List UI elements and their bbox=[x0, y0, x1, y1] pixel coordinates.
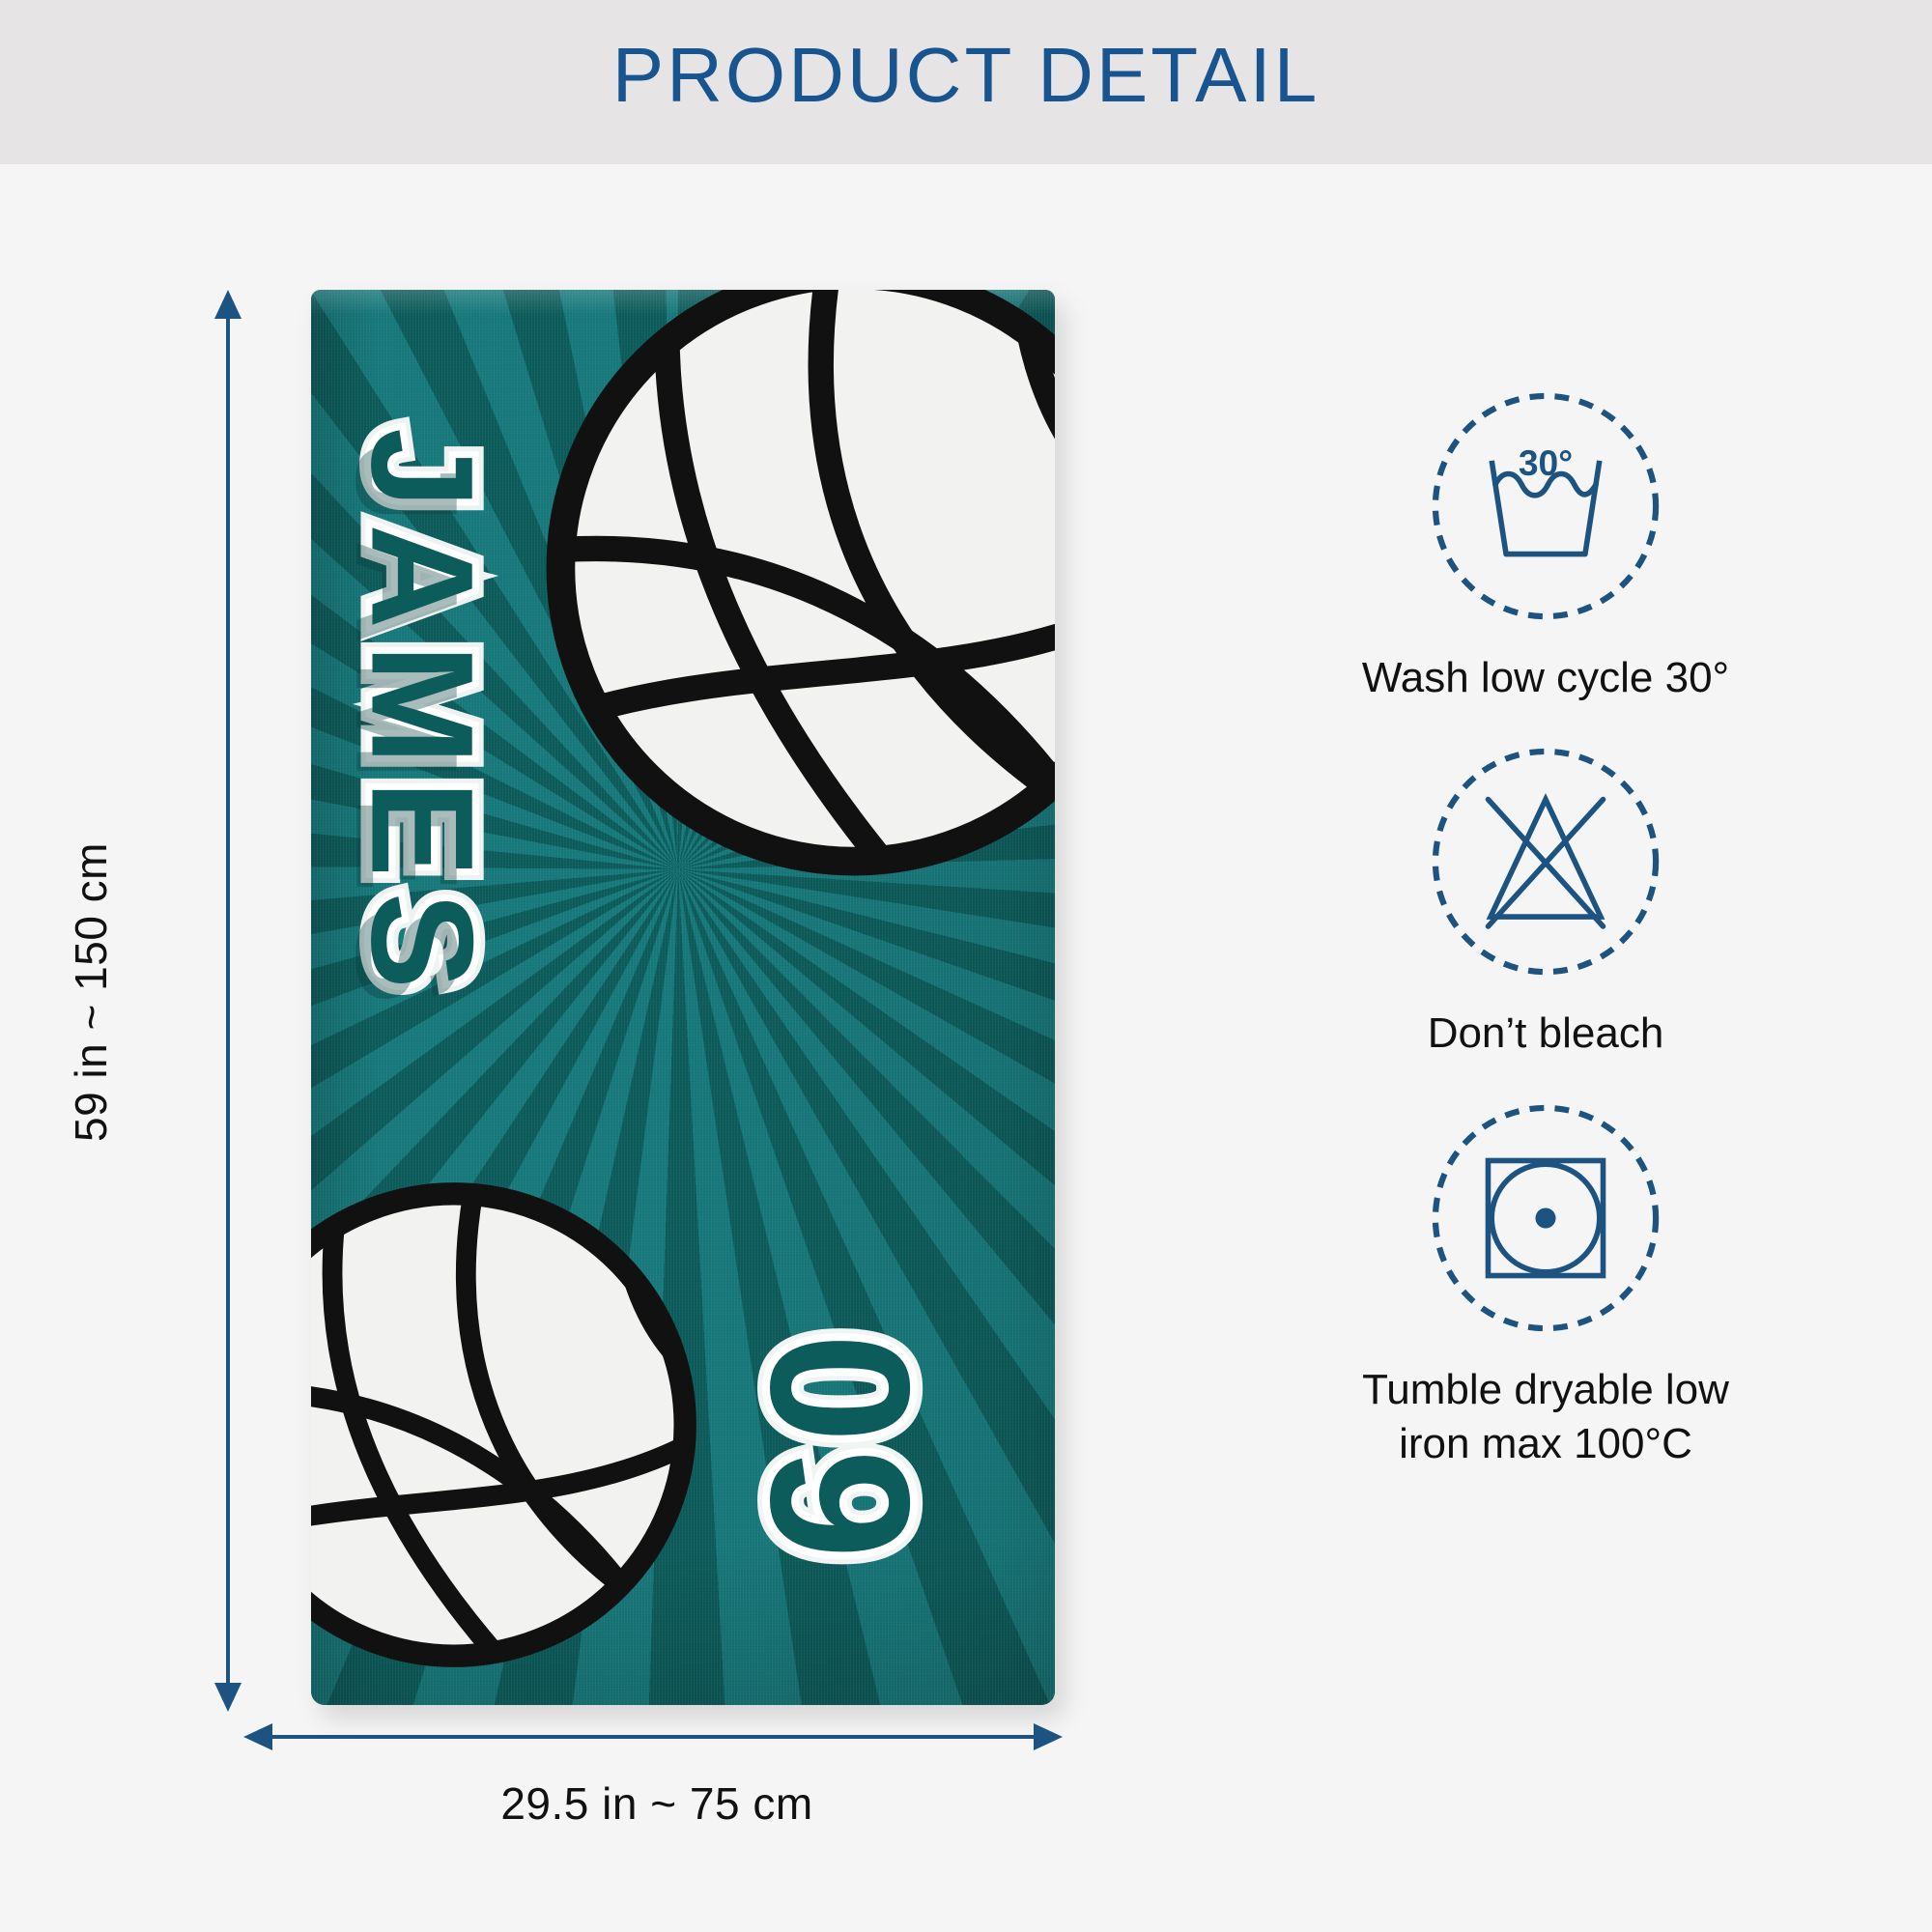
care-item-tumble-dry: Tumble dryable low iron max 100°C bbox=[1275, 1098, 1816, 1472]
towel-number-group: 09 09 bbox=[688, 1328, 1016, 1570]
no-bleach-triangle-icon bbox=[1426, 742, 1665, 981]
towel-number: 09 bbox=[725, 1246, 953, 1652]
volleyball-bottom-icon bbox=[311, 1174, 705, 1676]
page-title: PRODUCT DETAIL bbox=[0, 31, 1932, 120]
care-caption-no-bleach: Don’t bleach bbox=[1275, 1007, 1816, 1061]
towel-name: JAMES bbox=[339, 408, 506, 1026]
width-arrow-right-icon bbox=[1034, 1723, 1063, 1750]
care-instructions: 30° Wash low cycle 30° Don’t bleach bbox=[1275, 386, 1816, 1508]
width-arrow-left-icon bbox=[243, 1723, 272, 1750]
width-dimension-line bbox=[267, 1735, 1045, 1739]
height-label: 59 in ~ 150 cm bbox=[65, 789, 117, 1195]
care-caption-wash: Wash low cycle 30° bbox=[1275, 651, 1816, 705]
volleyball-top-icon bbox=[535, 290, 1055, 887]
care-caption-tumble-dry: Tumble dryable low iron max 100°C bbox=[1275, 1363, 1816, 1472]
wash-tub-icon: 30° bbox=[1426, 386, 1665, 626]
care-item-wash: 30° Wash low cycle 30° bbox=[1275, 386, 1816, 705]
care-item-no-bleach: Don’t bleach bbox=[1275, 742, 1816, 1061]
product-image: JAMES JAMES 09 09 bbox=[311, 290, 1055, 1705]
tumble-dry-low-icon bbox=[1426, 1098, 1665, 1338]
height-arrow-down-icon bbox=[214, 1683, 241, 1712]
beach-towel: JAMES JAMES 09 09 bbox=[311, 290, 1055, 1705]
towel-number-rotation: 09 09 bbox=[731, 1285, 973, 1613]
wash-temperature-badge: 30° bbox=[1519, 442, 1573, 483]
width-label: 29.5 in ~ 75 cm bbox=[241, 1777, 1072, 1830]
height-arrow-up-icon bbox=[214, 290, 241, 319]
height-dimension-line bbox=[226, 309, 230, 1690]
